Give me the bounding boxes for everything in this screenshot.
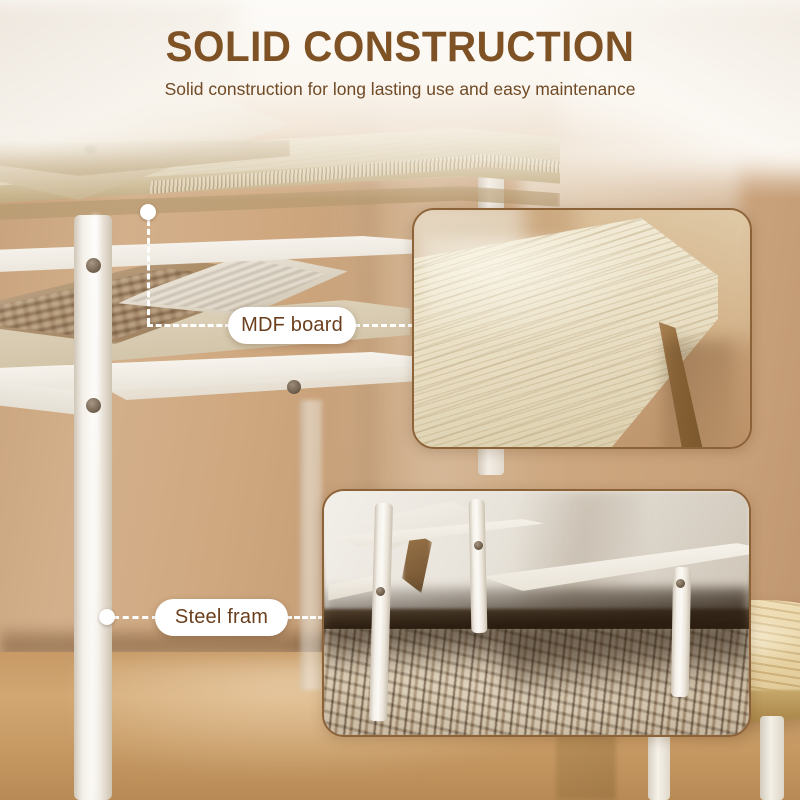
inset-steel-rug-shadow-secondary <box>504 641 751 689</box>
inset-mdf-shadow <box>664 340 734 449</box>
inset-panel-mdf-board <box>412 208 752 449</box>
callout-label-steel-frame: Steel fram <box>155 599 288 636</box>
callout-label-mdf-board: MDF board <box>228 307 356 344</box>
product-feature-image: SOLID CONSTRUCTION Solid construction fo… <box>0 0 800 800</box>
mdf-callout-line-to-inset <box>354 324 414 327</box>
heading-block: SOLID CONSTRUCTION Solid construction fo… <box>0 0 800 100</box>
inset-steel-leg-middle <box>469 499 488 633</box>
steel-callout-marker-dot <box>99 609 115 625</box>
callout-label-mdf-board-text: MDF board <box>241 314 343 337</box>
mdf-callout-line-vertical <box>147 220 150 324</box>
inset-steel-screw-right <box>676 579 685 588</box>
page-subtitle: Solid construction for long lasting use … <box>0 70 800 100</box>
mdf-callout-line-horizontal <box>147 324 231 327</box>
stool-leg-right <box>760 716 784 800</box>
rail-screw <box>287 380 301 394</box>
table-leg-highlight <box>92 215 99 800</box>
inset-panel-steel-frame <box>322 489 751 737</box>
table-leg-rear-blurred <box>300 400 322 690</box>
inset-steel-screw-left <box>376 587 385 596</box>
stool-leg-back <box>556 728 616 800</box>
inset-steel-screw-middle <box>474 541 483 550</box>
page-title: SOLID CONSTRUCTION <box>24 0 776 70</box>
mdf-callout-marker-dot <box>140 204 156 220</box>
callout-label-steel-frame-text: Steel fram <box>175 606 268 629</box>
inset-mdf-highlight <box>424 236 654 346</box>
leg-screw-upper <box>86 258 101 273</box>
steel-callout-line-to-inset <box>286 616 324 619</box>
leg-screw-lower <box>86 398 101 413</box>
steel-callout-line-left <box>113 616 158 619</box>
